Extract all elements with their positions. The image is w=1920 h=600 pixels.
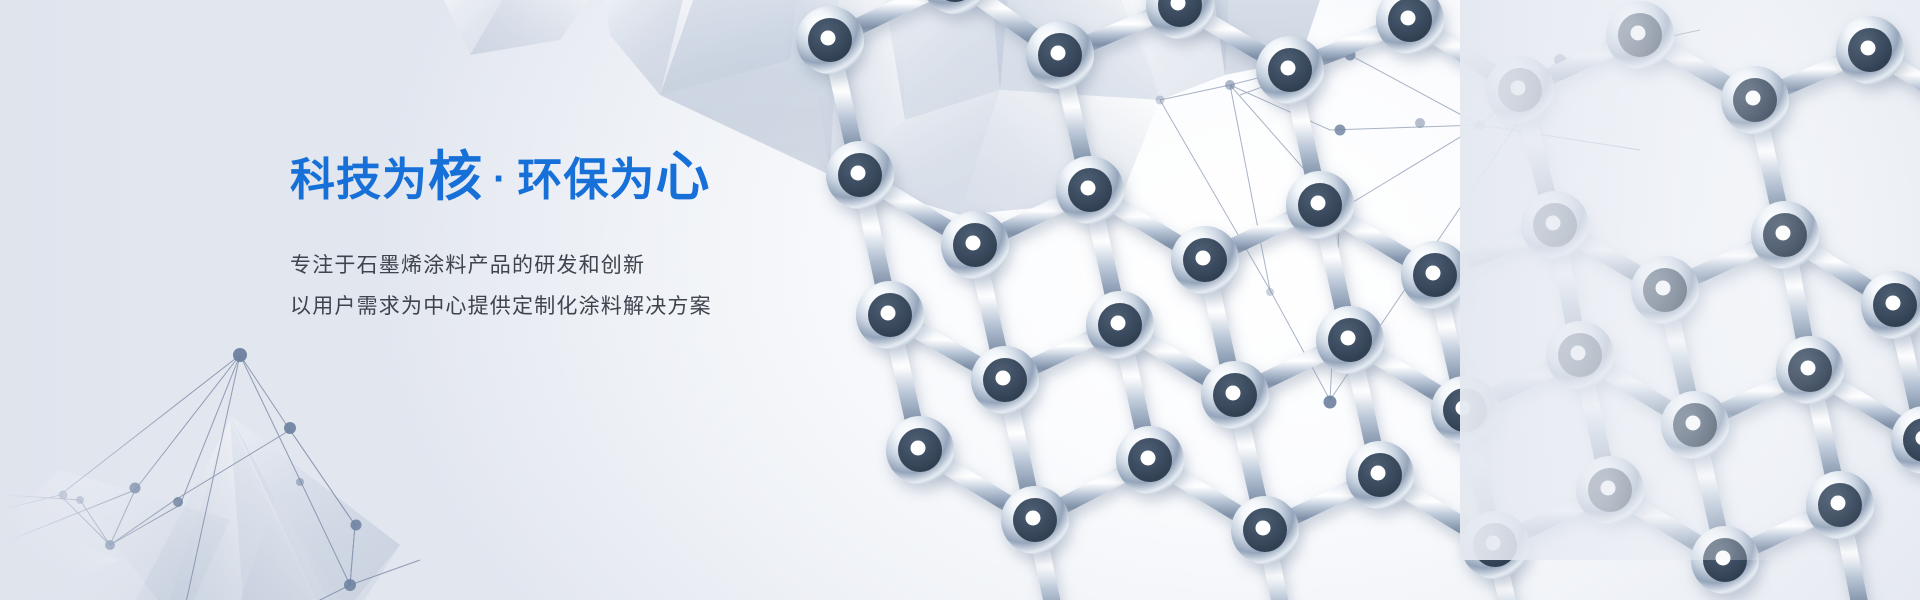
subtitle-line-2: 以用户需求为中心提供定制化涂料解决方案 (290, 287, 990, 328)
headline-separator: · (483, 159, 517, 199)
node-network-top (1160, 30, 1700, 400)
headline-segment-3: 环保为 (517, 157, 655, 202)
hero-banner: 科技为 核 · 环保为 心 专注于石墨烯涂料产品的研发和创新 以用户需求为中心提… (0, 0, 1920, 600)
left-edge-fade (0, 0, 180, 600)
headline-segment-1: 科技为 (290, 157, 428, 202)
subtitle-line-1: 专注于石墨烯涂料产品的研发和创新 (290, 246, 990, 287)
node-dots-top (1156, 50, 1567, 409)
headline-segment-4: 心 (655, 150, 710, 204)
hero-copy: 科技为 核 · 环保为 心 专注于石墨烯涂料产品的研发和创新 以用户需求为中心提… (290, 150, 990, 328)
hero-subtitle: 专注于石墨烯涂料产品的研发和创新 以用户需求为中心提供定制化涂料解决方案 (290, 246, 990, 328)
page-title: 科技为 核 · 环保为 心 (290, 150, 990, 204)
headline-segment-2: 核 (428, 150, 483, 204)
